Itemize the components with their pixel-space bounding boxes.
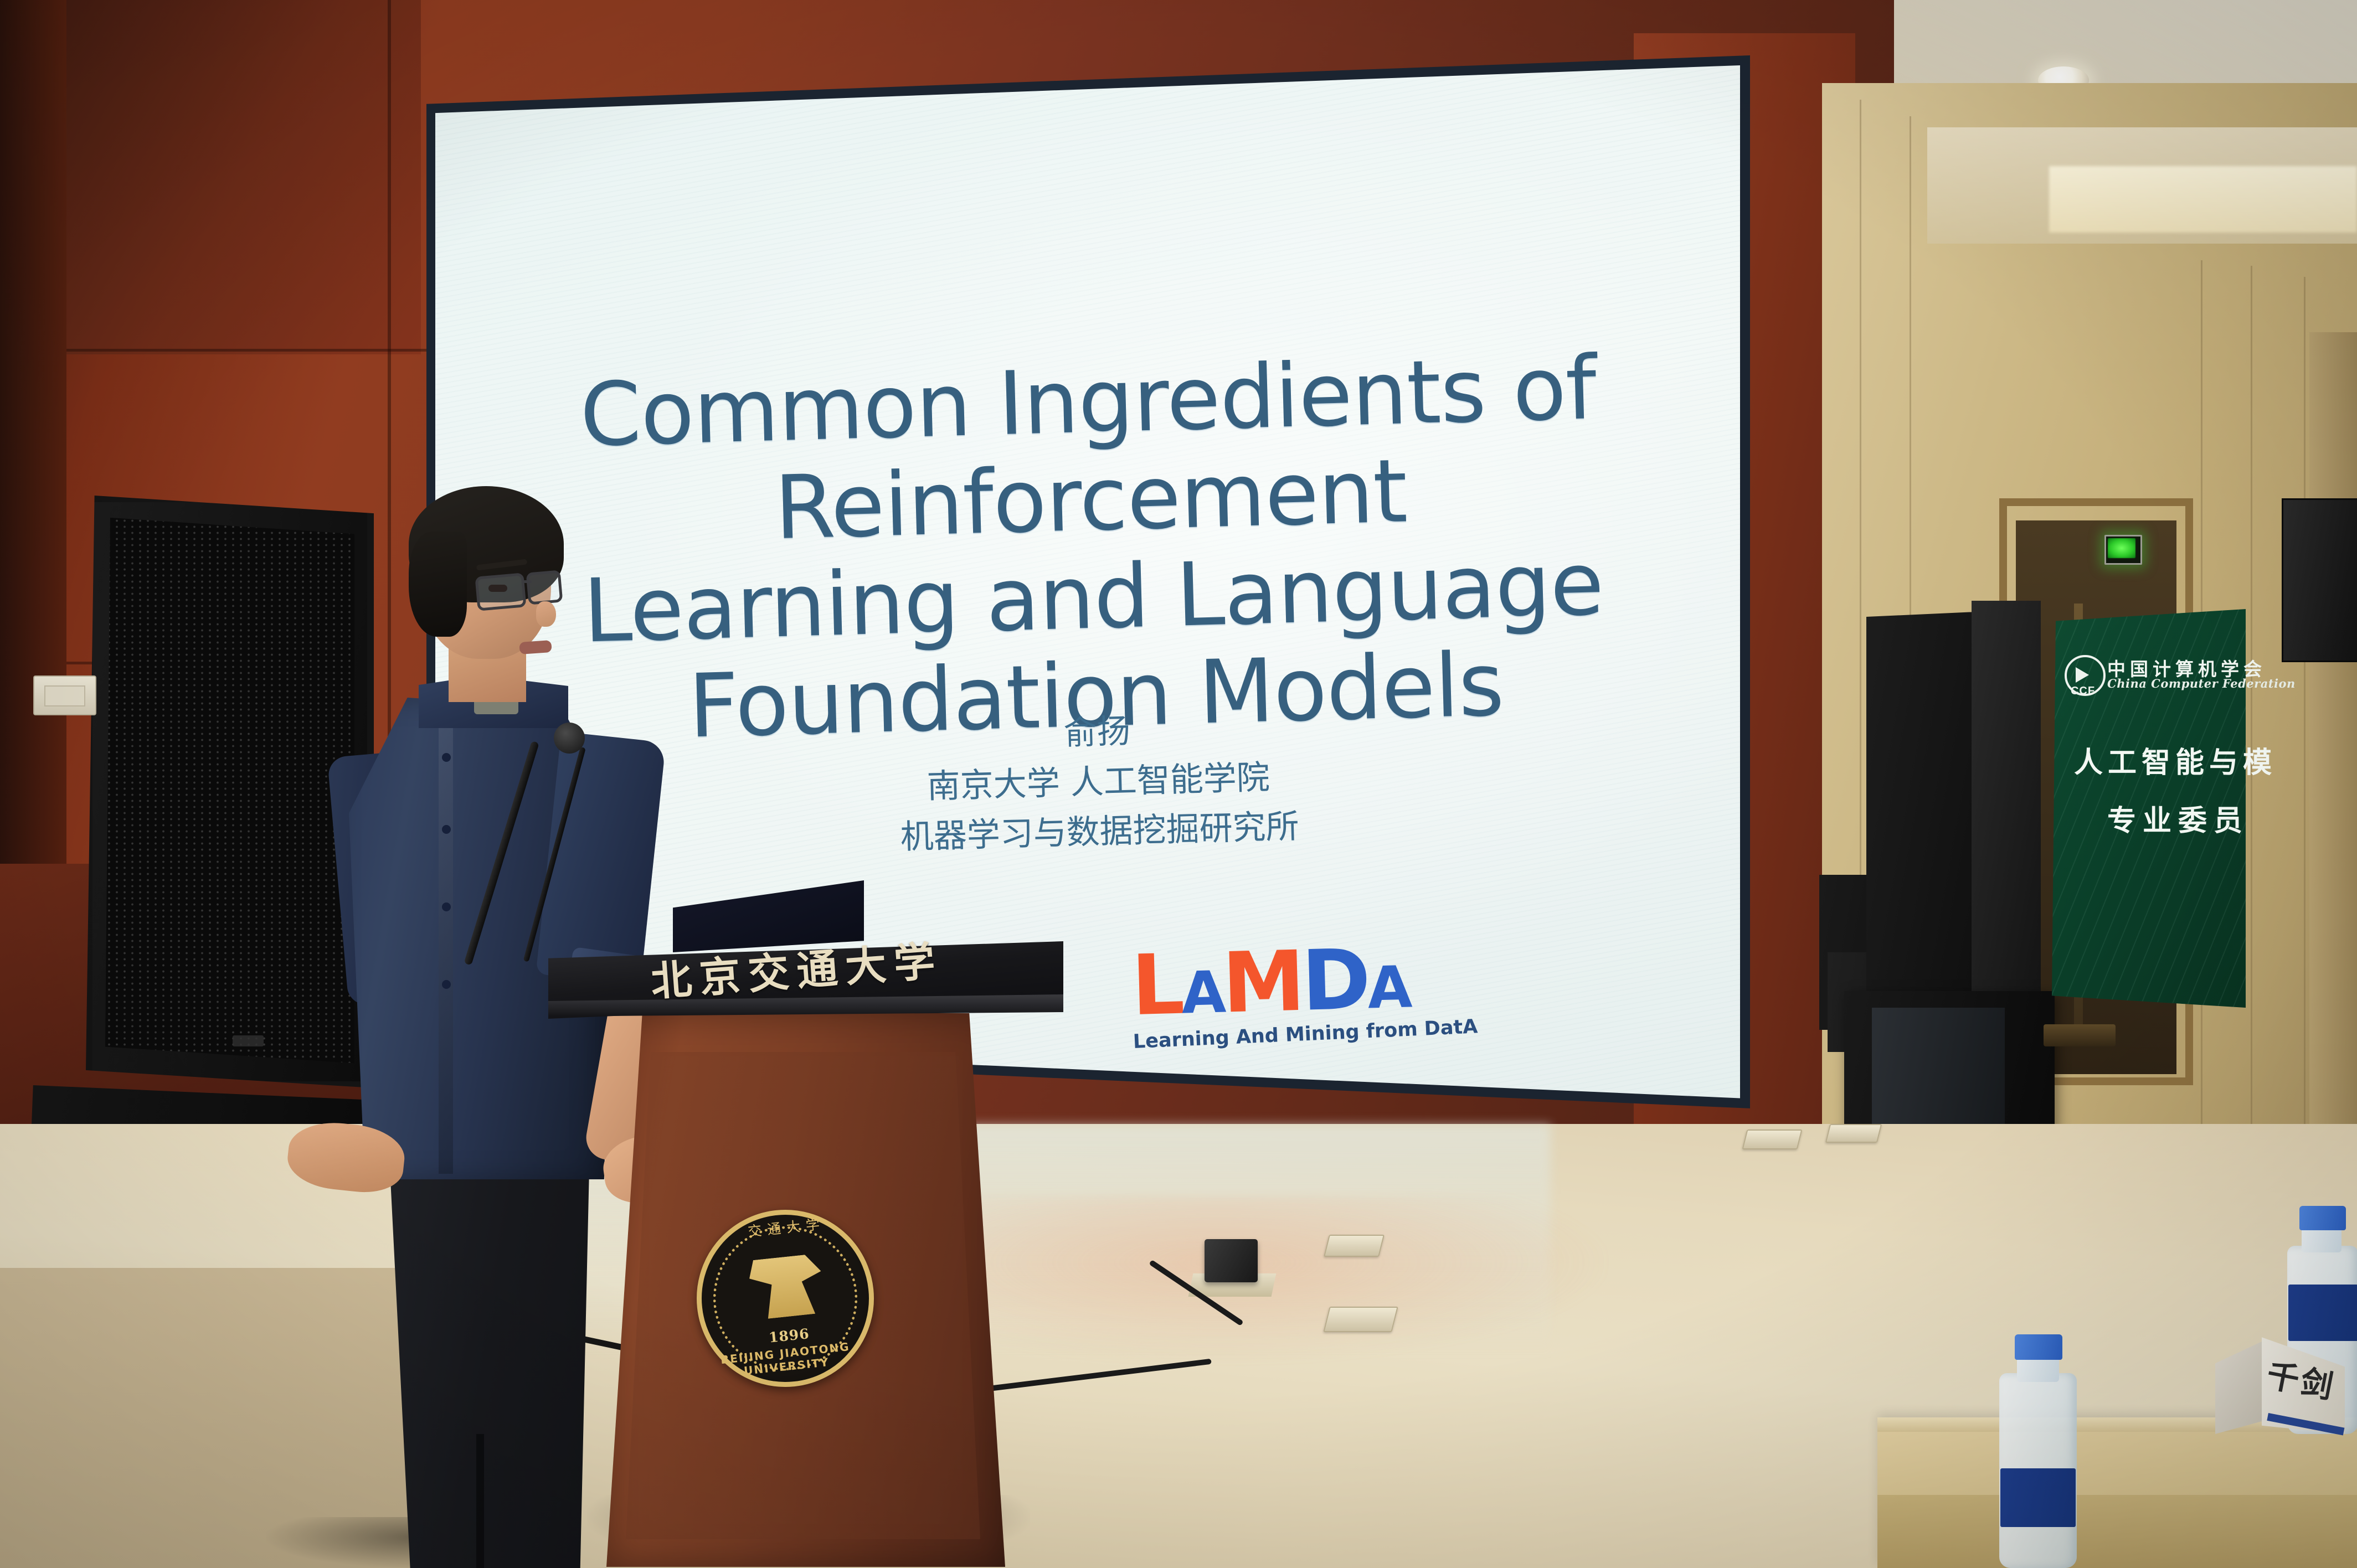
banner-committee-line1: 人工智能与模 — [2074, 739, 2257, 781]
lamda-letter-L: L — [1130, 937, 1182, 1034]
lamda-wordmark: LAMDA — [1130, 938, 1354, 1028]
floor-socket-2 — [1323, 1307, 1398, 1332]
eyeglasses-right-lens — [526, 570, 563, 605]
lamda-letter-a: A — [1181, 958, 1224, 1027]
cable-junction-box — [1205, 1239, 1258, 1282]
cove-light — [2049, 166, 2357, 233]
conference-hall-photo: Common Ingredients of Reinforcement Lear… — [0, 0, 2357, 1568]
wall-panel-line-4 — [2251, 266, 2252, 1196]
eyeglasses-bridge — [523, 580, 532, 583]
water-bottle-1-label — [2000, 1468, 2076, 1527]
water-bottle-2-neck — [2302, 1227, 2341, 1252]
lamda-logo: LAMDA Learning And Mining from DatA — [1130, 938, 1355, 1053]
presenter-trousers — [377, 1168, 598, 1568]
banner-committee-line2: 专业委员 — [2107, 797, 2273, 839]
light-switch-plate[interactable] — [33, 675, 96, 715]
name-card-left-face — [2215, 1341, 2263, 1434]
banner-base — [2044, 1024, 2116, 1046]
presenter-shirt-button-2 — [442, 825, 451, 834]
floor-socket-1 — [1324, 1235, 1385, 1257]
wall-panel-line-5 — [2304, 277, 2305, 1190]
floor-socket-4 — [1825, 1124, 1882, 1143]
presenter-leg-seam — [476, 1434, 484, 1568]
floor-socket-3 — [1742, 1129, 1803, 1149]
front-table-apron — [1877, 1495, 2357, 1568]
presenter-eye — [488, 585, 507, 592]
lamda-letter-A: A — [1367, 953, 1410, 1022]
wall-mounted-speaker-icon — [2282, 498, 2357, 662]
wall-right-corner — [2309, 332, 2357, 1163]
ccf-abbreviation: CCF — [2063, 685, 2102, 698]
lamda-letter-D: D — [1300, 932, 1368, 1030]
eyeglasses-left-lens — [475, 572, 526, 611]
presenter-shirt-placket — [439, 714, 453, 1174]
presenter-shirt-button-4 — [442, 980, 451, 989]
presenter-shirt-button-1 — [442, 753, 451, 762]
banner-org-name-en: China Computer Federation — [2107, 677, 2251, 690]
presenter-shirt-button-3 — [442, 902, 451, 911]
left-speaker-badge — [233, 1035, 264, 1046]
presenter-hair-side — [409, 532, 467, 637]
presenter-mouth — [519, 640, 552, 654]
water-bottle-2-cap — [2299, 1206, 2346, 1230]
presenter-nose — [536, 601, 556, 627]
light-switch-rocker[interactable] — [44, 685, 85, 706]
exit-icon — [2108, 538, 2135, 558]
name-card: 千剑 — [2215, 1329, 2343, 1434]
right-loudspeaker-side — [1972, 601, 2041, 999]
microphone-icon — [554, 723, 585, 754]
water-bottle-1-cap — [2015, 1334, 2062, 1360]
lamda-letter-M: M — [1221, 933, 1303, 1032]
